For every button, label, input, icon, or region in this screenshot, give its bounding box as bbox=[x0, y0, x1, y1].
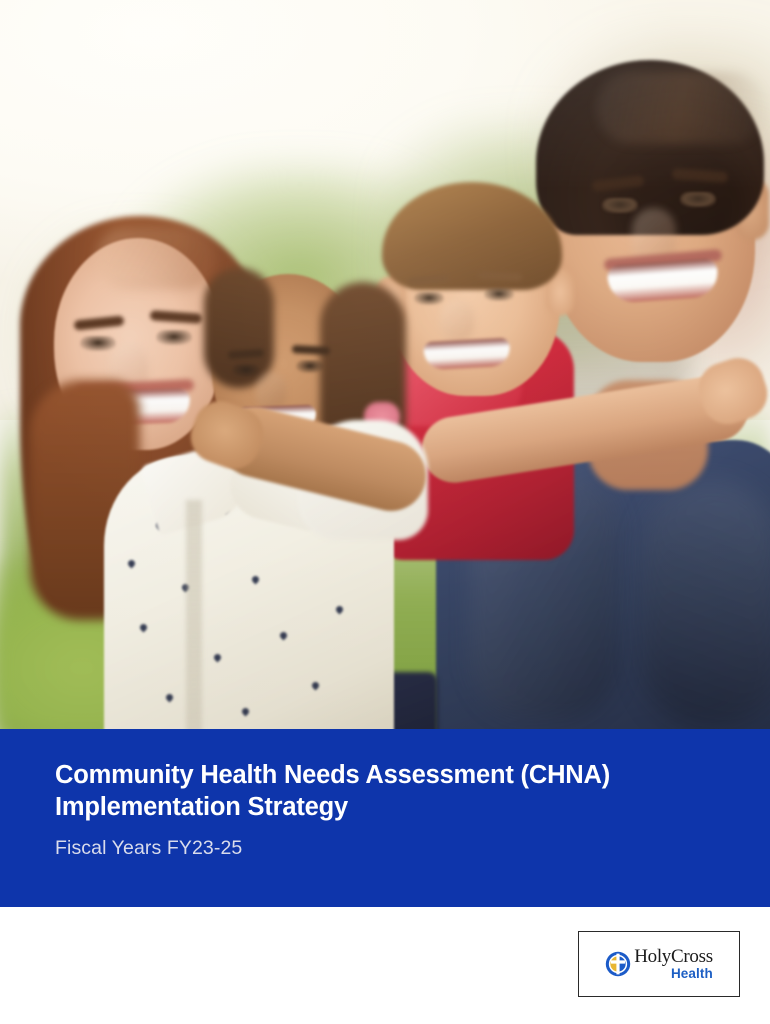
logo-name-primary: HolyCross bbox=[634, 947, 713, 966]
title-band: Community Health Needs Assessment (CHNA)… bbox=[0, 729, 770, 907]
page-footer: HolyCross Health bbox=[0, 907, 770, 1024]
man-eye bbox=[602, 198, 638, 213]
holy-cross-emblem-icon bbox=[605, 951, 631, 977]
boy-eye bbox=[484, 288, 514, 301]
page-title: Community Health Needs Assessment (CHNA)… bbox=[55, 759, 740, 823]
cover-page: Community Health Needs Assessment (CHNA)… bbox=[0, 0, 770, 1024]
woman-eye bbox=[156, 330, 192, 345]
organization-logo: HolyCross Health bbox=[578, 931, 740, 997]
woman-eye bbox=[80, 336, 116, 351]
man-shirt-fold bbox=[640, 480, 770, 729]
logo-name-secondary: Health bbox=[634, 967, 713, 981]
logo-wordmark: HolyCross Health bbox=[634, 947, 713, 981]
boy-smile bbox=[423, 338, 510, 370]
woman-blouse-placket bbox=[186, 500, 202, 729]
girl-eye bbox=[232, 364, 260, 377]
boy-eye bbox=[414, 292, 444, 305]
woman-hair-part bbox=[96, 228, 216, 290]
girl-eye bbox=[296, 360, 324, 373]
title-band-content: Community Health Needs Assessment (CHNA)… bbox=[55, 759, 740, 860]
girl-nose bbox=[256, 372, 286, 410]
man-eye bbox=[680, 192, 716, 207]
man-hair-highlight bbox=[596, 72, 766, 144]
logo-lockup: HolyCross Health bbox=[605, 947, 713, 981]
cover-photo bbox=[0, 0, 770, 729]
boy-nose bbox=[440, 300, 474, 342]
page-subtitle: Fiscal Years FY23-25 bbox=[55, 837, 740, 860]
